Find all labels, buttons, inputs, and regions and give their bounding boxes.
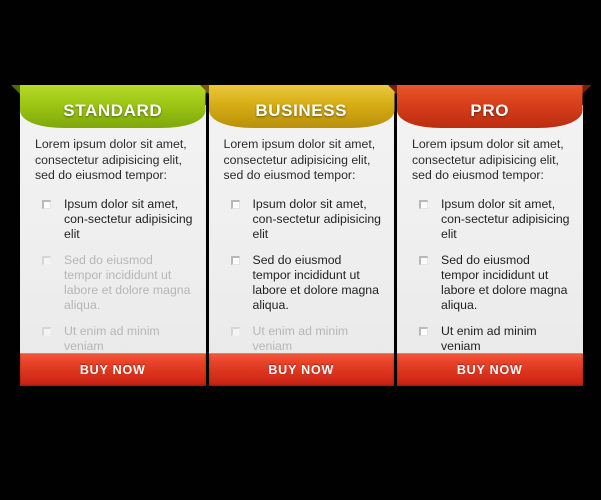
pricing-card-pro: PROLorem ipsum dolor sit amet, consectet…	[397, 105, 583, 386]
feature-label: Ut enim ad minim veniam	[441, 324, 570, 354]
feature-item[interactable]: Sed do eiusmod tempor incididunt ut labo…	[222, 253, 382, 313]
card-body-standard: Lorem ipsum dolor sit amet, consectetur …	[20, 105, 206, 353]
checkbox-icon[interactable]	[42, 200, 51, 209]
feature-item[interactable]: Ipsum dolor sit amet, con-sectetur adipi…	[410, 197, 570, 242]
feature-item[interactable]: Ut enim ad minim veniam	[222, 324, 382, 354]
feature-item[interactable]: Ut enim ad minim veniam	[33, 324, 193, 354]
buy-now-button-pro[interactable]: BUY NOW	[397, 353, 583, 386]
feature-item[interactable]: Ipsum dolor sit amet, con-sectetur adipi…	[33, 197, 193, 242]
feature-label: Ut enim ad minim veniam	[64, 324, 193, 354]
feature-item[interactable]: Ut enim ad minim veniam	[410, 324, 570, 354]
feature-label: Ipsum dolor sit amet, con-sectetur adipi…	[253, 197, 382, 242]
pricing-card-list: STANDARDLorem ipsum dolor sit amet, cons…	[20, 105, 583, 386]
plan-intro-standard: Lorem ipsum dolor sit amet, consectetur …	[35, 137, 193, 184]
checkbox-icon[interactable]	[419, 200, 428, 209]
checkbox-icon[interactable]	[42, 256, 51, 265]
buy-now-button-business[interactable]: BUY NOW	[209, 353, 395, 386]
feature-label: Sed do eiusmod tempor incididunt ut labo…	[441, 253, 570, 313]
plan-intro-pro: Lorem ipsum dolor sit amet, consectetur …	[412, 137, 570, 184]
feature-label: Sed do eiusmod tempor incididunt ut labo…	[64, 253, 193, 313]
feature-item[interactable]: Sed do eiusmod tempor incididunt ut labo…	[410, 253, 570, 313]
pricing-card-business: BUSINESSLorem ipsum dolor sit amet, cons…	[209, 105, 395, 386]
checkbox-icon[interactable]	[231, 200, 240, 209]
checkbox-icon[interactable]	[419, 327, 428, 336]
feature-list-pro: Ipsum dolor sit amet, con-sectetur adipi…	[410, 197, 570, 354]
plan-intro-business: Lorem ipsum dolor sit amet, consectetur …	[224, 137, 382, 184]
card-body-pro: Lorem ipsum dolor sit amet, consectetur …	[397, 105, 583, 353]
card-body-business: Lorem ipsum dolor sit amet, consectetur …	[209, 105, 395, 353]
checkbox-icon[interactable]	[231, 327, 240, 336]
feature-label: Ipsum dolor sit amet, con-sectetur adipi…	[441, 197, 570, 242]
feature-item[interactable]: Ipsum dolor sit amet, con-sectetur adipi…	[222, 197, 382, 242]
checkbox-icon[interactable]	[231, 256, 240, 265]
checkbox-icon[interactable]	[419, 256, 428, 265]
feature-list-business: Ipsum dolor sit amet, con-sectetur adipi…	[222, 197, 382, 354]
checkbox-icon[interactable]	[42, 327, 51, 336]
feature-list-standard: Ipsum dolor sit amet, con-sectetur adipi…	[33, 197, 193, 354]
pricing-board: STANDARDLorem ipsum dolor sit amet, cons…	[0, 0, 601, 500]
feature-item[interactable]: Sed do eiusmod tempor incididunt ut labo…	[33, 253, 193, 313]
feature-label: Ipsum dolor sit amet, con-sectetur adipi…	[64, 197, 193, 242]
feature-label: Sed do eiusmod tempor incididunt ut labo…	[253, 253, 382, 313]
pricing-card-standard: STANDARDLorem ipsum dolor sit amet, cons…	[20, 105, 206, 386]
buy-now-button-standard[interactable]: BUY NOW	[20, 353, 206, 386]
feature-label: Ut enim ad minim veniam	[253, 324, 382, 354]
